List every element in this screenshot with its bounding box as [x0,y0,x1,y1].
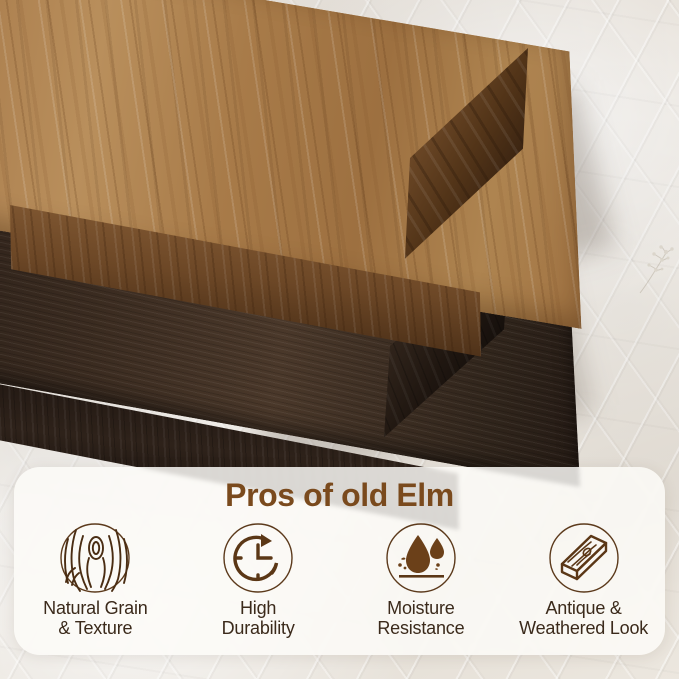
wood-grain-icon [58,521,132,595]
product-feature-image: Pros of old Elm [0,0,679,679]
dried-flower-sprig [636,243,679,295]
feature-label: High Durability [222,598,295,638]
wood-plank-icon [547,521,621,595]
feature-label: Moisture Resistance [377,598,464,638]
feature-antique-weathered-look: Antique & Weathered Look [502,521,665,638]
water-droplet-icon [384,521,458,595]
card-title: Pros of old Elm [225,479,454,511]
walnut-board [0,0,610,290]
features-row: Natural Grain & Texture High Durability [14,521,665,638]
feature-label: Natural Grain & Texture [43,598,147,638]
clock-arrow-icon [221,521,295,595]
feature-card: Pros of old Elm [14,467,665,655]
feature-label: Antique & Weathered Look [519,598,648,638]
feature-natural-grain: Natural Grain & Texture [14,521,177,638]
feature-moisture-resistance: Moisture Resistance [340,521,503,638]
feature-high-durability: High Durability [177,521,340,638]
